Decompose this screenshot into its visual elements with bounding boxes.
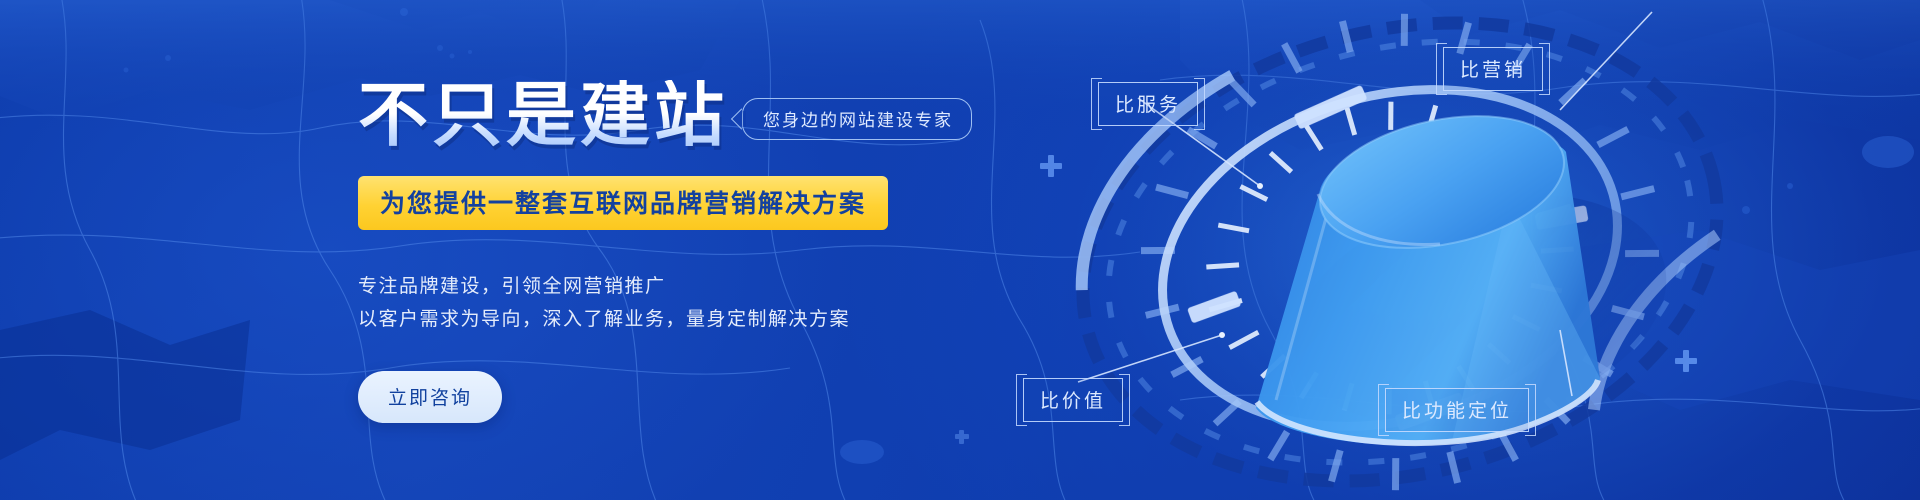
callout-service[interactable]: 比服务 <box>1098 82 1198 126</box>
callout-label: 比营销 <box>1460 60 1526 81</box>
highlight-banner-text: 为您提供一整套互联网品牌营销解决方案 <box>380 190 866 218</box>
callout-label: 比服务 <box>1115 95 1181 116</box>
hero-copy-block: 不只是建站 您身边的网站建设专家 为您提供一整套互联网品牌营销解决方案 专注品牌… <box>358 80 998 423</box>
bracket-left-icon <box>1016 374 1027 426</box>
bracket-right-icon <box>1119 374 1130 426</box>
subtitle-line-2: 以客户需求为导向，深入了解业务，量身定制解决方案 <box>358 303 998 336</box>
bracket-right-icon <box>1194 78 1205 130</box>
headline-row: 不只是建站 您身边的网站建设专家 <box>358 80 998 150</box>
callout-value[interactable]: 比价值 <box>1023 378 1123 422</box>
callout-function-positioning[interactable]: 比功能定位 <box>1385 388 1529 432</box>
consult-now-button[interactable]: 立即咨询 <box>358 371 502 423</box>
highlight-banner: 为您提供一整套互联网品牌营销解决方案 <box>358 176 888 230</box>
page-title: 不只是建站 <box>358 80 728 150</box>
hero-banner: 比服务 比营销 比价值 比功能定位 不只是建站 您身边的网站建设专家 为您提供一… <box>0 0 1920 500</box>
bracket-right-icon <box>1525 384 1536 436</box>
callout-marketing[interactable]: 比营销 <box>1443 47 1543 91</box>
bracket-left-icon <box>1436 43 1447 95</box>
tagline-text: 您身边的网站建设专家 <box>763 111 953 130</box>
tagline-bubble: 您身边的网站建设专家 <box>742 98 972 140</box>
subtitle-line-1: 专注品牌建设，引领全网营销推广 <box>358 270 998 303</box>
callout-label: 比价值 <box>1040 391 1106 412</box>
bracket-right-icon <box>1539 43 1550 95</box>
bracket-left-icon <box>1091 78 1102 130</box>
callout-label: 比功能定位 <box>1402 401 1512 422</box>
bracket-left-icon <box>1378 384 1389 436</box>
subtitle-block: 专注品牌建设，引领全网营销推广 以客户需求为导向，深入了解业务，量身定制解决方案 <box>358 270 998 337</box>
